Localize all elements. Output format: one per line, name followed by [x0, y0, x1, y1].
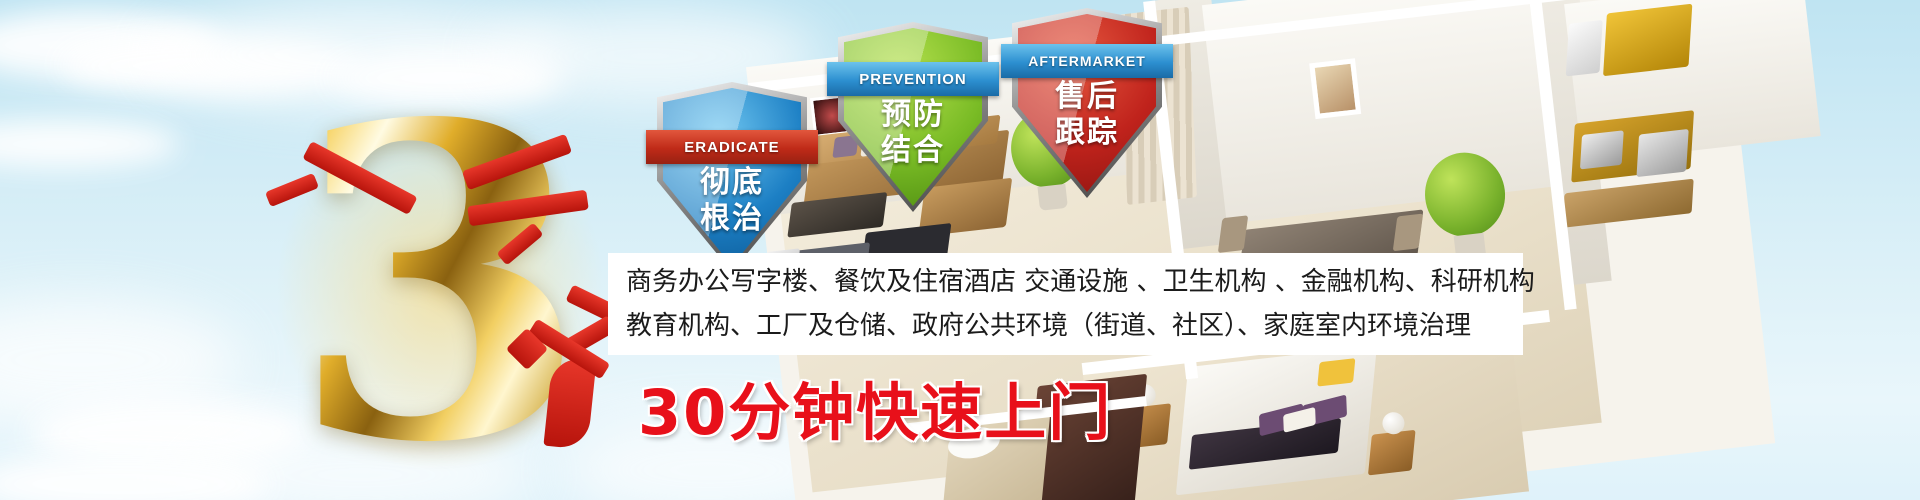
cloud-shape: [0, 120, 180, 168]
oven: [1580, 130, 1624, 169]
sink: [1636, 129, 1688, 177]
dining-chair: [1393, 214, 1423, 252]
portrait-painting: [1309, 58, 1361, 119]
shield-badge-aftermarket[interactable]: AFTERMARKET 售后 跟踪: [1012, 8, 1162, 198]
shield-cn-line-2: 结合: [838, 134, 988, 168]
service-scope-line-2: 教育机构、工厂及仓储、政府公共环境（街道、社区）、家庭室内环境治理: [626, 304, 1505, 348]
shield-banner: AFTERMARKET: [1001, 44, 1173, 78]
shield-cn-line-1: 售后: [1012, 80, 1162, 114]
shield-banner-label: PREVENTION: [859, 71, 967, 88]
dining-chair: [1218, 215, 1248, 253]
shield-banner: PREVENTION: [827, 62, 999, 96]
shield-cn-line-2: 根治: [657, 202, 807, 236]
folded-blanket: [1317, 358, 1355, 386]
range-hood: [1566, 20, 1603, 77]
service-scope-panel: 商务办公写字楼、餐饮及住宿酒店 交通设施 、卫生机构 、金融机构、科研机构 教育…: [608, 253, 1523, 355]
hero-number-3: 3: [250, 90, 630, 490]
shield-cn-line-1: 预防: [838, 98, 988, 132]
shield-banner-label: ERADICATE: [684, 139, 779, 156]
shield-badge-eradicate[interactable]: ERADICATE 彻底 根治: [657, 82, 807, 272]
service-scope-line-1: 商务办公写字楼、餐饮及住宿酒店 交通设施 、卫生机构 、金融机构、科研机构: [626, 260, 1505, 304]
kitchen-upper-cabinet: [1603, 4, 1692, 77]
shield-banner-label: AFTERMARKET: [1028, 53, 1146, 69]
shield-cn-line-1: 彻底: [657, 166, 807, 200]
shield-badge-prevention[interactable]: PREVENTION 预防 结合: [838, 22, 988, 212]
promotional-banner: 3 ERADICATE 彻底 根治 PREVENTION 预防 结合: [0, 0, 1920, 500]
promo-headline: 30分钟快速上门: [638, 362, 1112, 452]
shield-banner: ERADICATE: [646, 130, 818, 164]
shield-cn-line-2: 跟踪: [1012, 116, 1162, 150]
nightstand: [1368, 430, 1416, 476]
